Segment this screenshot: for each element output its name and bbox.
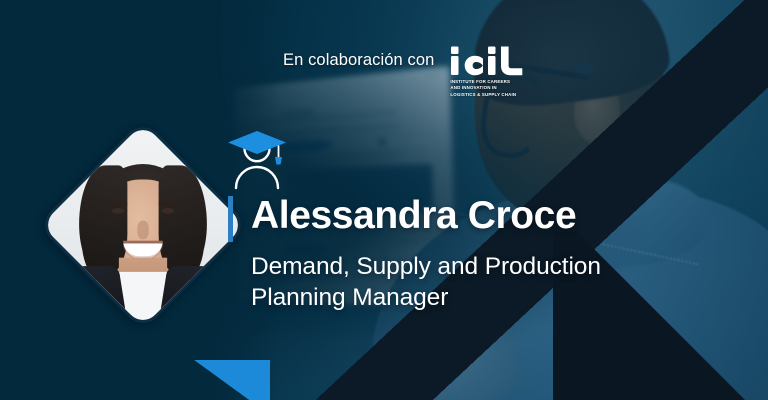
graduation-cap-icon xyxy=(222,124,292,190)
speaker-role: Demand, Supply and Production Planning M… xyxy=(251,252,601,314)
collaboration-block: En colaboración con xyxy=(283,46,524,98)
accent-bar xyxy=(228,196,233,242)
speaker-role-line-1: Demand, Supply and Production xyxy=(251,252,601,283)
speaker-name: Alessandra Croce xyxy=(251,196,576,235)
speaker-name-block: Alessandra Croce xyxy=(228,196,576,242)
icil-wordmark xyxy=(450,46,524,76)
collaboration-label: En colaboración con xyxy=(283,46,434,69)
speaker-photo xyxy=(41,123,245,327)
speaker-portrait-frame xyxy=(68,150,218,300)
speaker-role-line-2: Planning Manager xyxy=(251,283,601,314)
icil-tagline: INSTITUTE FOR CAREERS AND INNOVATION IN … xyxy=(450,79,516,98)
icil-logo: INSTITUTE FOR CAREERS AND INNOVATION IN … xyxy=(450,46,524,98)
speaker-portrait xyxy=(37,119,249,331)
webinar-speaker-banner: En colaboración con xyxy=(0,0,768,400)
